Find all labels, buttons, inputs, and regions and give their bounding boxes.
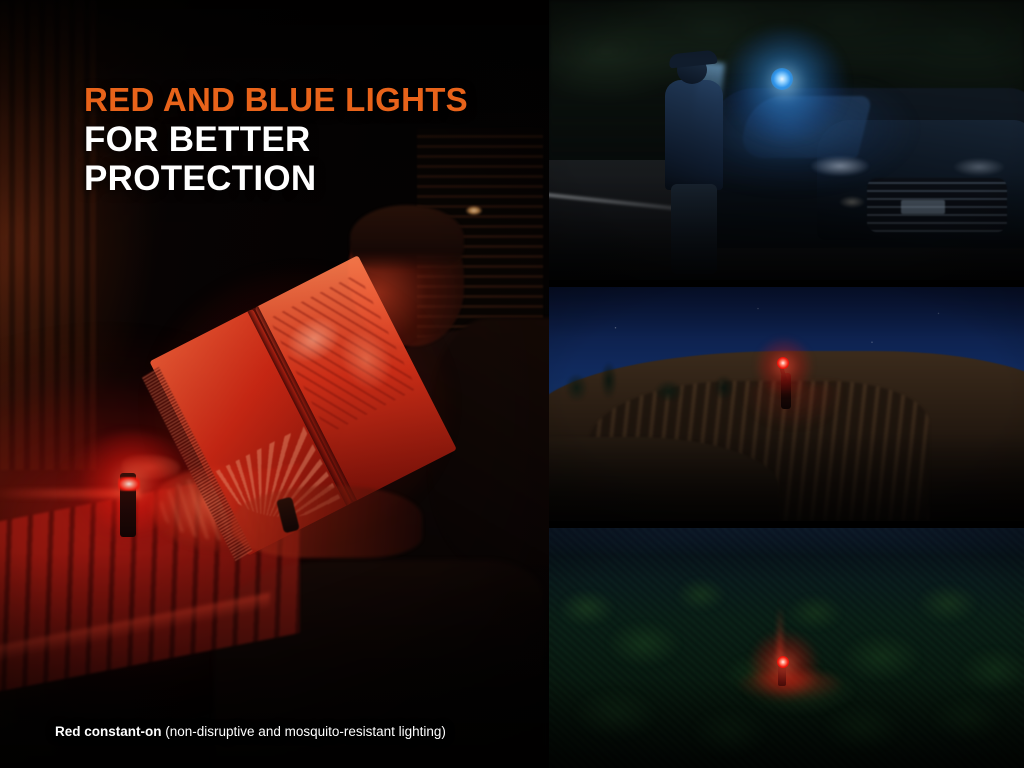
page-title: RED AND BLUE LIGHTS FOR BETTER PROTECTIO…	[84, 82, 549, 198]
product-feature-poster: RED AND BLUE LIGHTS FOR BETTER PROTECTIO…	[0, 0, 1024, 768]
scene-cliff-signal	[549, 287, 1024, 521]
panel-vignette	[549, 0, 1024, 280]
caption-desc: (non-disruptive and mosquito-resistant l…	[165, 724, 446, 739]
panel-red-and-blue-flash: Red & blue flash (alert surroundings and…	[549, 0, 1024, 280]
headline-line-2: FOR BETTER PROTECTION	[84, 121, 549, 198]
scene-forest-aerial	[549, 528, 1024, 768]
panel-red-flash: Red flash (warning signals and safety re…	[549, 528, 1024, 768]
scene-roadside-vehicle	[549, 0, 1024, 280]
headline-line-1: RED AND BLUE LIGHTS	[84, 82, 549, 118]
panel-vignette	[549, 528, 1024, 768]
panel-vignette	[549, 287, 1024, 521]
caption-red-constant-on: Red constant-on (non-disruptive and mosq…	[55, 724, 446, 739]
caption-lead: Red constant-on	[55, 724, 162, 739]
panel-red-sos: Red SOS (send distress signals and call …	[549, 287, 1024, 521]
panel-red-constant-on: RED AND BLUE LIGHTS FOR BETTER PROTECTIO…	[0, 0, 549, 768]
